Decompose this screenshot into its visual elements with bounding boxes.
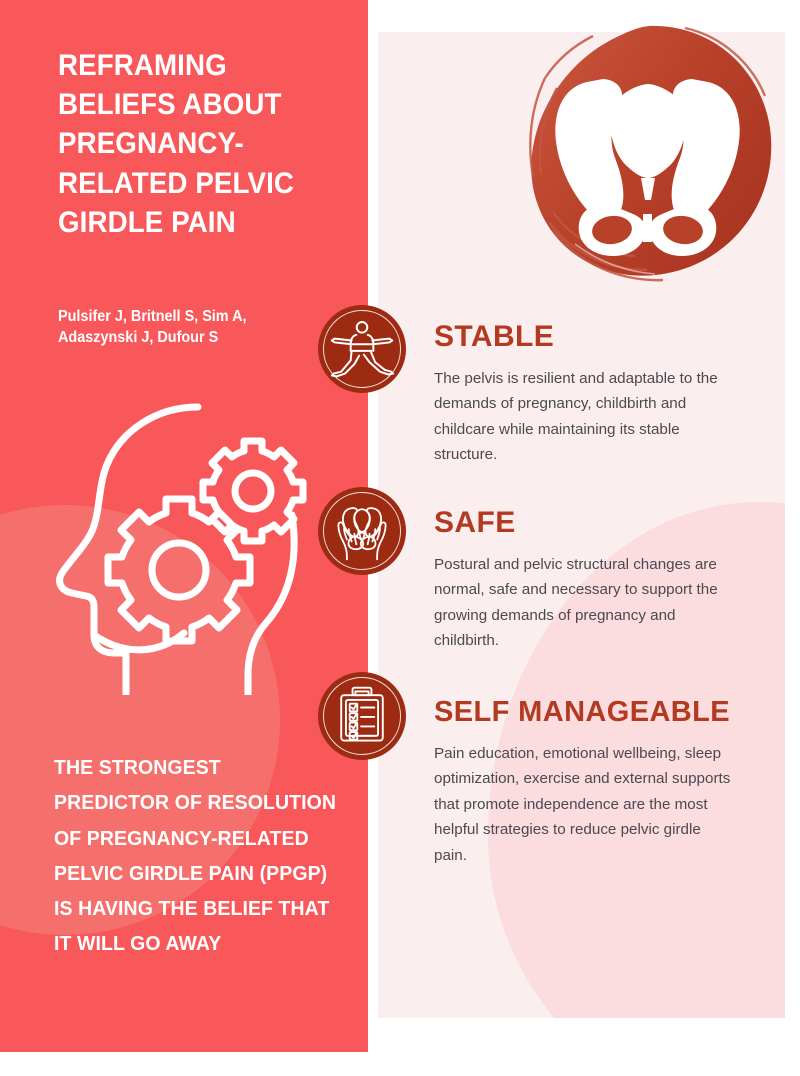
- section-body-self-manageable: Pain education, emotional wellbeing, sle…: [434, 741, 734, 868]
- section-safe: SAFE Postural and pelvic structural chan…: [434, 508, 744, 654]
- pelvis-brushstroke-icon: [515, 18, 780, 288]
- section-stable: STABLE The pelvis is resilient and adapt…: [434, 322, 744, 468]
- authors-list: Pulsifer J, Britnell S, Sim A, Adaszynsk…: [58, 307, 328, 349]
- infographic-poster: REFRAMING BELIEFS ABOUT PREGNANCY-RELATE…: [0, 0, 800, 1076]
- yoga-warrior-pose-icon: [318, 305, 406, 393]
- head-with-gears-icon: [48, 385, 318, 695]
- section-body-stable: The pelvis is resilient and adaptable to…: [434, 366, 744, 468]
- pelvis-in-hands-icon: [318, 487, 406, 575]
- section-title-self-manageable: SELF MANAGEABLE: [434, 698, 764, 727]
- section-body-safe: Postural and pelvic structural changes a…: [434, 552, 744, 654]
- key-statement: THE STRONGEST PREDICTOR OF RESOLUTION OF…: [54, 750, 339, 962]
- section-title-stable: STABLE: [434, 322, 744, 352]
- page-title: REFRAMING BELIEFS ABOUT PREGNANCY-RELATE…: [58, 46, 323, 242]
- section-title-safe: SAFE: [434, 508, 744, 538]
- clipboard-checklist-icon: [318, 672, 406, 760]
- section-self-manageable: SELF MANAGEABLE Pain education, emotiona…: [434, 698, 764, 868]
